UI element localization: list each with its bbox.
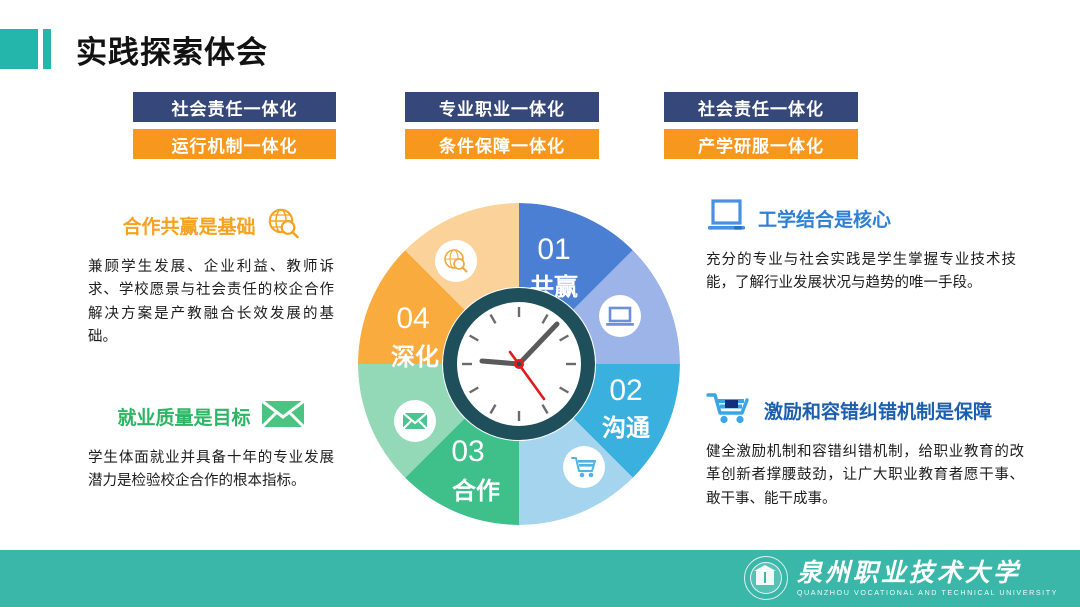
panel-bottom-left: 就业质量是目标 学生体面就业并具备十年的专业发展潜力是检验校企合作的根本指标。 (88, 398, 334, 494)
badge-group-2: 专业职业一体化 条件保障一体化 (405, 92, 599, 159)
panel-bottom-right: 激励和容错纠错机制是保障 健全激励机制和容错纠错机制，给职业教育的改革创新者撑腰… (706, 392, 1024, 511)
badge-amber-2[interactable]: 条件保障一体化 (405, 129, 599, 159)
university-logo: 泉州职业技术大学 QUANZHOU VOCATIONAL AND TECHNIC… (744, 556, 1058, 600)
badge-amber-3[interactable]: 产学研服一体化 (664, 129, 858, 159)
logo-name-cn: 泉州职业技术大学 (797, 560, 1058, 585)
segment-03-label: 合作 (452, 477, 500, 505)
panel-top-left-head: 合作共赢是基础 (88, 207, 334, 243)
badge-row: 社会责任一体化 运行机制一体化 专业职业一体化 条件保障一体化 社会责任一体化 … (0, 92, 1080, 172)
panel-top-right-body: 充分的专业与社会实践是学生掌握专业技术技能，了解行业发展状况与趋势的唯一手段。 (706, 249, 1016, 296)
panel-top-left-body: 兼顾学生发展、企业利益、教师诉求、学校愿景与社会责任的校企合作解决方案是产教融合… (88, 256, 334, 350)
panel-bottom-right-title: 激励和容错纠错机制是保障 (764, 397, 992, 424)
globe-search-icon (266, 206, 300, 245)
panel-bottom-right-head: 激励和容错纠错机制是保障 (706, 392, 1024, 428)
clock-icon (443, 288, 595, 440)
segment-04-label: 深化 (391, 343, 439, 371)
panel-bottom-left-head: 就业质量是目标 (88, 398, 334, 434)
segment-04-number: 04 (396, 302, 429, 335)
badge-amber-1[interactable]: 运行机制一体化 (133, 129, 336, 159)
university-crest-icon (744, 556, 788, 600)
panel-top-right: 工学结合是核心 充分的专业与社会实践是学生掌握专业技术技能，了解行业发展状况与趋… (706, 200, 1016, 296)
segment-02-label: 沟通 (602, 414, 650, 442)
logo-text-block: 泉州职业技术大学 QUANZHOU VOCATIONAL AND TECHNIC… (797, 560, 1058, 596)
segment-03-number: 03 (451, 435, 484, 468)
envelope-icon (261, 399, 305, 434)
page-title: 实践探索体会 (76, 27, 268, 72)
shopping-cart-icon (706, 391, 754, 430)
segment-01-number: 01 (537, 233, 570, 266)
wheel-laptop-icon (599, 295, 641, 337)
wheel-envelope-icon (394, 400, 436, 442)
wheel-cart-icon (563, 446, 605, 488)
page-header: 实践探索体会 (0, 28, 268, 70)
badge-dark-2[interactable]: 专业职业一体化 (405, 92, 599, 122)
donut-svg: 01 共赢 02 沟通 03 合作 04 深化 (358, 203, 680, 525)
title-accent-bar (43, 29, 51, 69)
panel-bottom-left-body: 学生体面就业并具备十年的专业发展潜力是检验校企合作的根本指标。 (88, 447, 334, 494)
panel-top-left: 合作共赢是基础 兼顾学生发展、企业利益、教师诉求、学校愿景与社会责任的校企合作解… (88, 207, 334, 350)
badge-dark-3[interactable]: 社会责任一体化 (664, 92, 858, 122)
panel-top-right-title: 工学结合是核心 (758, 205, 891, 232)
badge-dark-1[interactable]: 社会责任一体化 (133, 92, 336, 122)
badge-group-3: 社会责任一体化 产学研服一体化 (664, 92, 858, 159)
laptop-icon (706, 198, 748, 239)
panel-top-left-title: 合作共赢是基础 (122, 212, 255, 239)
panel-bottom-left-title: 就业质量是目标 (117, 403, 250, 430)
panel-bottom-right-body: 健全激励机制和容错纠错机制，给职业教育的改革创新者撑腰鼓劲，让广大职业教育者愿干… (706, 441, 1024, 511)
cycle-donut-chart: 01 共赢 02 沟通 03 合作 04 深化 (358, 203, 680, 525)
wheel-globe-search-icon (435, 240, 477, 282)
badge-group-1: 社会责任一体化 运行机制一体化 (133, 92, 336, 159)
slide-root: 实践探索体会 社会责任一体化 运行机制一体化 专业职业一体化 条件保障一体化 社… (0, 0, 1080, 607)
panel-top-right-head: 工学结合是核心 (706, 200, 1016, 236)
footer-bar: 泉州职业技术大学 QUANZHOU VOCATIONAL AND TECHNIC… (0, 550, 1080, 607)
title-accent-block (0, 29, 38, 69)
logo-name-en: QUANZHOU VOCATIONAL AND TECHNICAL UNIVER… (797, 589, 1058, 596)
segment-02-number: 02 (609, 374, 642, 407)
